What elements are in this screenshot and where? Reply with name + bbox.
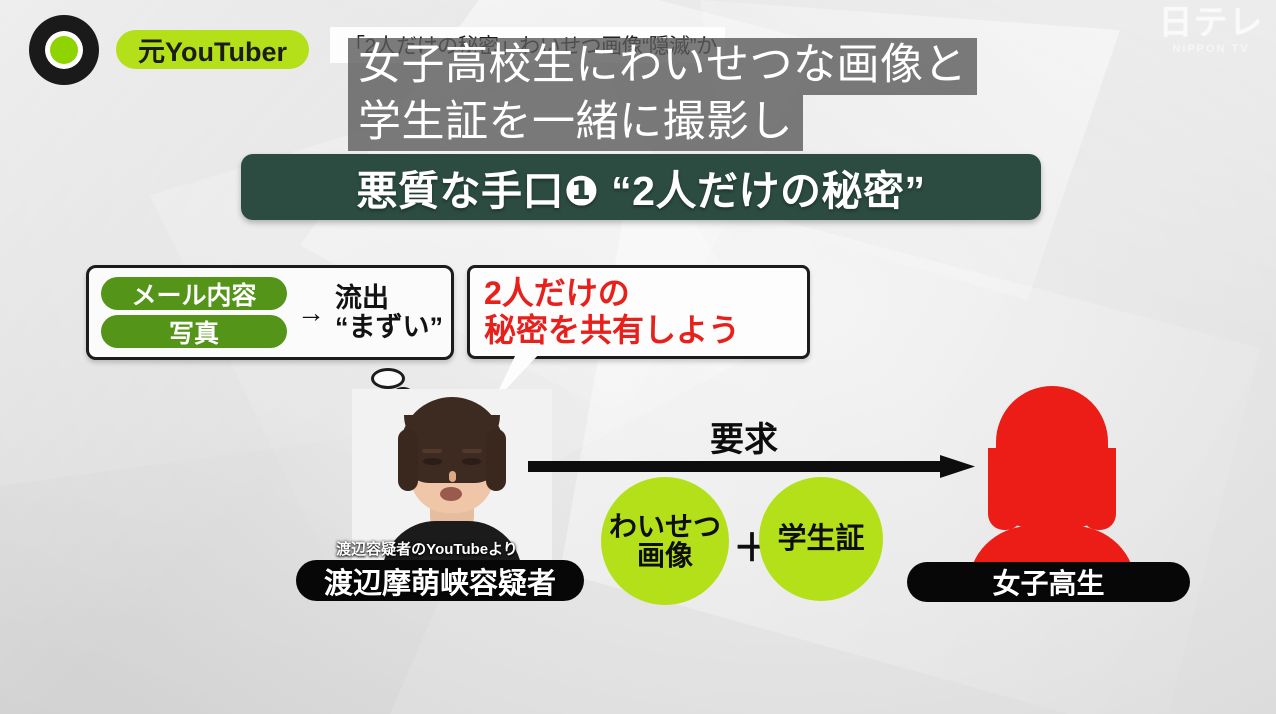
subtitle-line-2: 学生証を一緒に撮影し [348, 95, 803, 152]
portrait-hair-right [486, 429, 506, 491]
background-facet [560, 180, 1260, 714]
method-banner-text: 悪質な手口❶ “2人だけの秘密” [357, 157, 926, 217]
thought-pill-group: メール内容 写真 [101, 277, 287, 348]
logo-core [50, 36, 78, 64]
news-headline-text: 「2人だけの秘密」わいせつ画像“隠滅”か [344, 30, 717, 60]
portrait-mouth [440, 487, 462, 501]
station-watermark: 日テレ NIPPON TV [1156, 6, 1266, 78]
thought-content-card: メール内容 写真 → 流出 “まずい” [86, 265, 454, 360]
suspect-speech-bubble: 2人だけの 秘密を共有しよう [467, 265, 810, 359]
portrait-eyebrow-right [462, 449, 482, 453]
photo-credit-text: 渡辺容疑者のYouTubeより [312, 538, 542, 559]
demand-label: 要求 [710, 412, 778, 461]
speech-bubble-line-2: 秘密を共有しよう [484, 312, 807, 349]
thought-pill-mail: メール内容 [101, 277, 287, 310]
portrait-hair-left [398, 429, 418, 491]
portrait-eye-right [462, 458, 481, 465]
portrait-eyebrow-left [422, 449, 442, 453]
right-arrow-icon: → [297, 299, 325, 327]
obscene-image-line-2: 画像 [637, 541, 693, 570]
student-id-label: 学生証 [777, 524, 864, 554]
ex-youtuber-tag: 元YouTuber [116, 30, 309, 69]
ex-youtuber-tag-label: 元YouTuber [138, 30, 287, 69]
thought-pill-photo: 写真 [101, 315, 287, 348]
station-watermark-main: 日テレ [1156, 6, 1266, 40]
portrait-eye-left [423, 458, 442, 465]
thought-bubble-dot-large [371, 368, 405, 389]
demanded-item-obscene-image: わいせつ 画像 [601, 477, 729, 605]
speech-bubble-line-1: 2人だけの [484, 275, 807, 312]
silhouette-head [996, 386, 1108, 528]
thought-result-line-2: “まずい” [335, 313, 443, 341]
ntv-circle-logo-icon [29, 15, 99, 85]
method-banner: 悪質な手口❶ “2人だけの秘密” [241, 154, 1041, 220]
suspect-name-text: 渡辺摩萌峡容疑者 [324, 560, 556, 602]
demanded-item-student-id: 学生証 [759, 477, 883, 601]
broadcast-news-graphic: 日テレ NIPPON TV 元YouTuber 「2人だけの秘密」わいせつ画像“… [0, 0, 1276, 714]
station-watermark-sub: NIPPON TV [1156, 44, 1266, 55]
logo-inner-ring [45, 31, 83, 69]
background-facet [700, 0, 1120, 300]
portrait-nose [449, 471, 456, 482]
obscene-image-line-1: わいせつ [609, 512, 721, 541]
victim-label: 女子高生 [907, 562, 1190, 602]
thought-result-line-1: 流出 [335, 284, 443, 312]
suspect-name-label: 渡辺摩萌峡容疑者 [296, 560, 584, 601]
demand-arrow-icon [528, 455, 975, 477]
arrow-shaft [528, 461, 946, 472]
news-headline-strip: 「2人だけの秘密」わいせつ画像“隠滅”か [330, 27, 725, 63]
female-silhouette-icon [958, 386, 1144, 578]
thought-result-group: 流出 “まずい” [335, 284, 443, 341]
victim-label-text: 女子高生 [992, 562, 1104, 602]
